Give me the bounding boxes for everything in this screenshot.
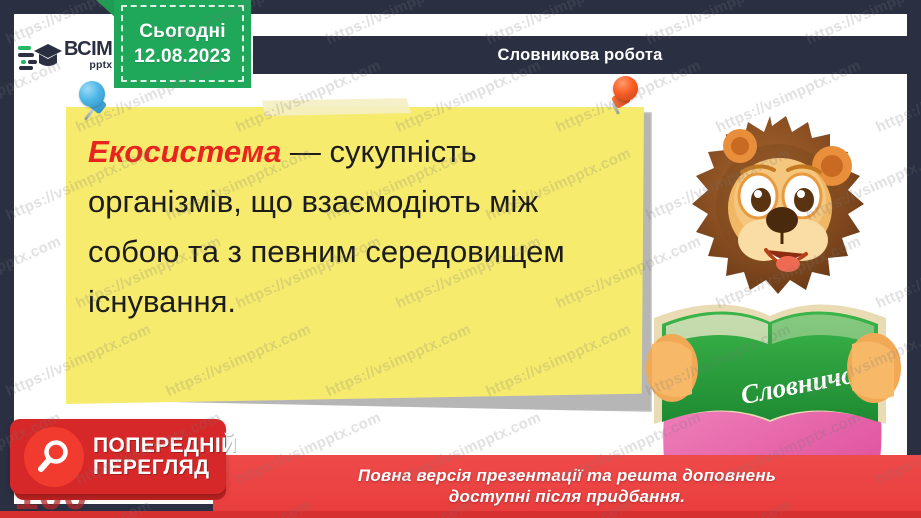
page-title: Словникова робота bbox=[498, 46, 663, 65]
date-badge-label: Сьогодні bbox=[139, 21, 225, 43]
banner-line-1: Повна версія презентації та решта доповн… bbox=[358, 466, 776, 486]
banner-line-2: доступні після придбання. bbox=[449, 487, 685, 507]
lion-mascot-illustration: Словничок bbox=[636, 104, 908, 460]
term-highlight: Екосистема bbox=[88, 134, 281, 169]
header-bar: Словникова робота bbox=[253, 36, 907, 74]
magnifier-icon bbox=[24, 427, 84, 487]
definition-text: Екосистема — сукупність організмів, що в… bbox=[88, 127, 628, 327]
preview-badge[interactable]: ПОПЕРЕДНІЙ ПЕРЕГЛЯД bbox=[10, 419, 226, 494]
date-badge-value: 12.08.2023 bbox=[134, 46, 231, 68]
pushpin-red-icon bbox=[605, 76, 649, 122]
banner-bottom-strip bbox=[0, 511, 921, 518]
date-badge: Сьогодні 12.08.2023 bbox=[114, 0, 251, 88]
purchase-notice-banner: Повна версія презентації та решта доповн… bbox=[213, 455, 921, 518]
graduation-cap-icon bbox=[18, 38, 62, 72]
slide-canvas: ВСІМ pptx Сьогодні 12.08.2023 Словникова… bbox=[0, 0, 921, 518]
logo-sub-text: pptx bbox=[64, 60, 112, 71]
preview-badge-line-2: ПЕРЕГЛЯД bbox=[93, 457, 237, 478]
pushpin-blue-icon bbox=[75, 79, 121, 125]
preview-badge-line-1: ПОПЕРЕДНІЙ bbox=[93, 435, 237, 456]
brand-logo: ВСІМ pptx bbox=[14, 27, 122, 83]
logo-main-text: ВСІМ bbox=[64, 39, 112, 59]
